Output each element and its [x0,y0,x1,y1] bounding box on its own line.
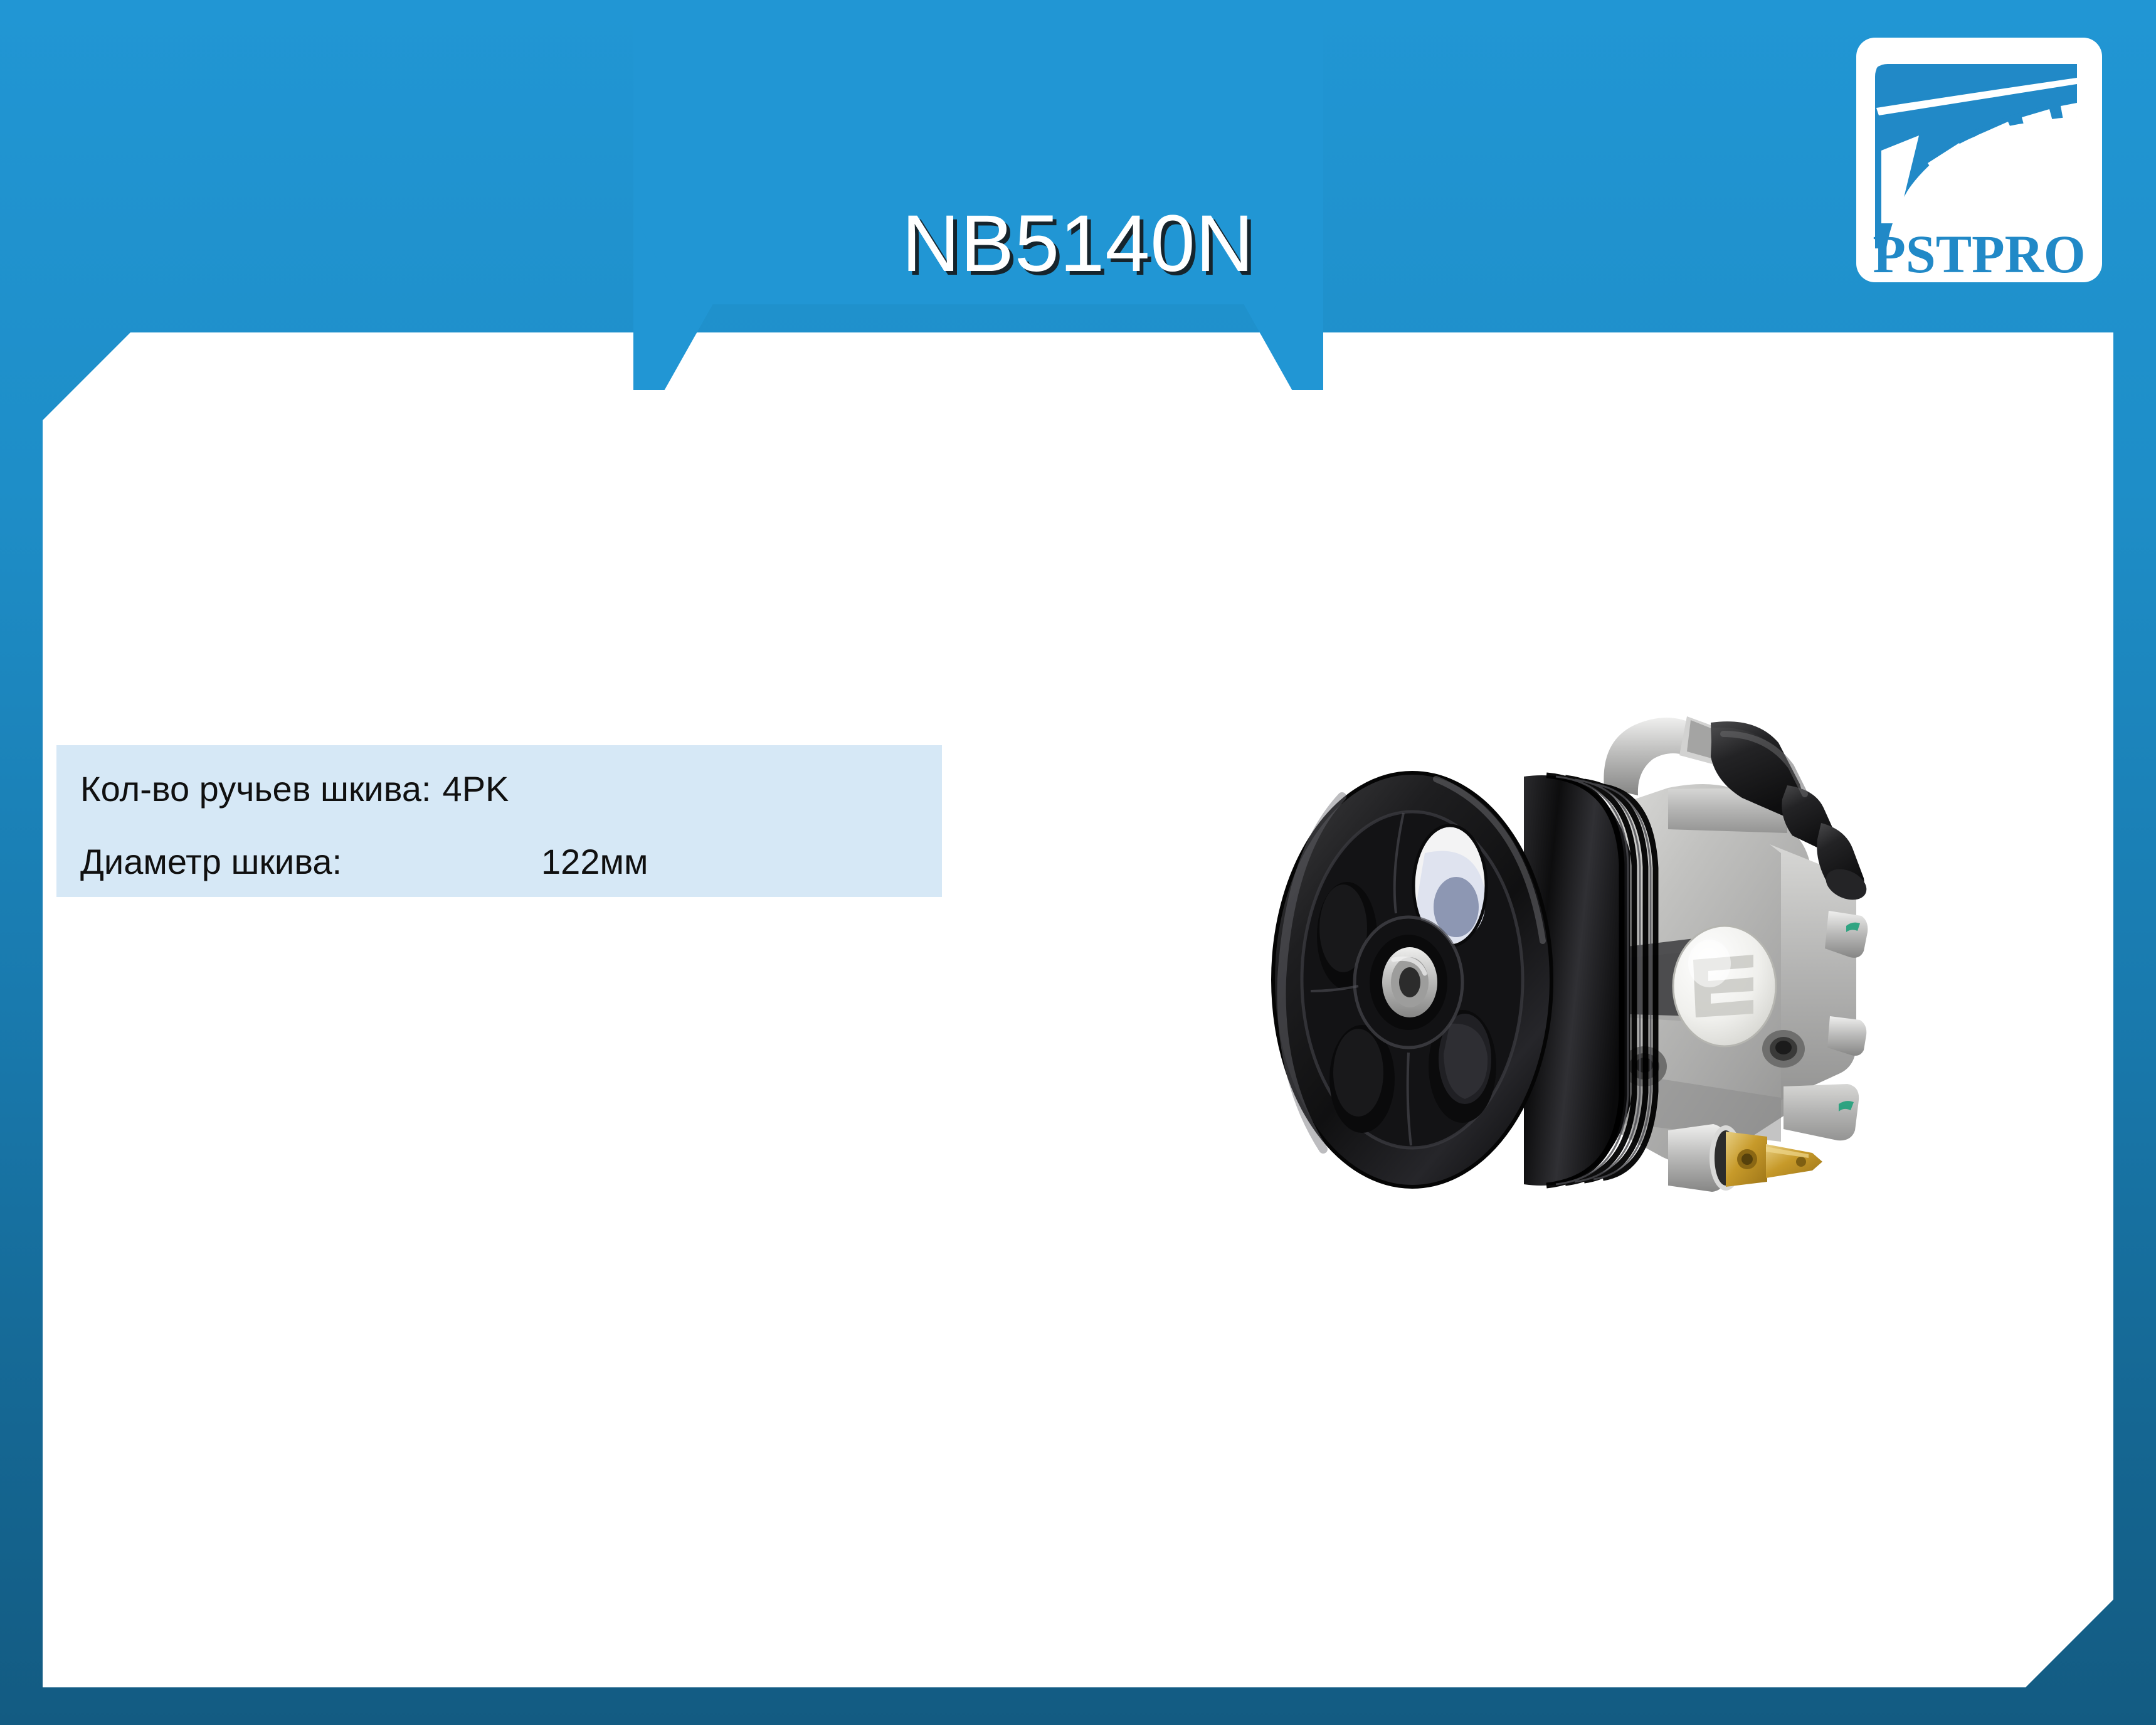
spec-value-pulley-grooves: 4PK [443,772,509,807]
page-title: NB5140N [0,198,2156,290]
logo-wordmark: PSTPRO [1873,224,2085,284]
spec-label-pulley-diameter: Диаметр шкива: [80,844,342,879]
pulley [1273,773,1656,1187]
specifications-box: Кол-во ручьев шкива: 4PK Диаметр шкива: … [56,745,942,897]
product-image [1229,665,1931,1242]
spec-row: Диаметр шкива: 122мм [80,844,942,879]
reservoir-cap [1673,926,1776,1046]
spec-row: Кол-во ручьев шкива: 4PK [80,772,942,807]
banner-shape [633,0,1323,390]
pulley-hub [1355,917,1462,1048]
spec-value-pulley-diameter: 122мм [541,844,648,879]
title-banner [633,0,1323,390]
spec-label-pulley-grooves: Кол-во ручьев шкива: [80,772,431,807]
pressure-switch-connector [1668,1124,1822,1192]
pstpro-logo: PSTPRO [1854,35,2105,285]
